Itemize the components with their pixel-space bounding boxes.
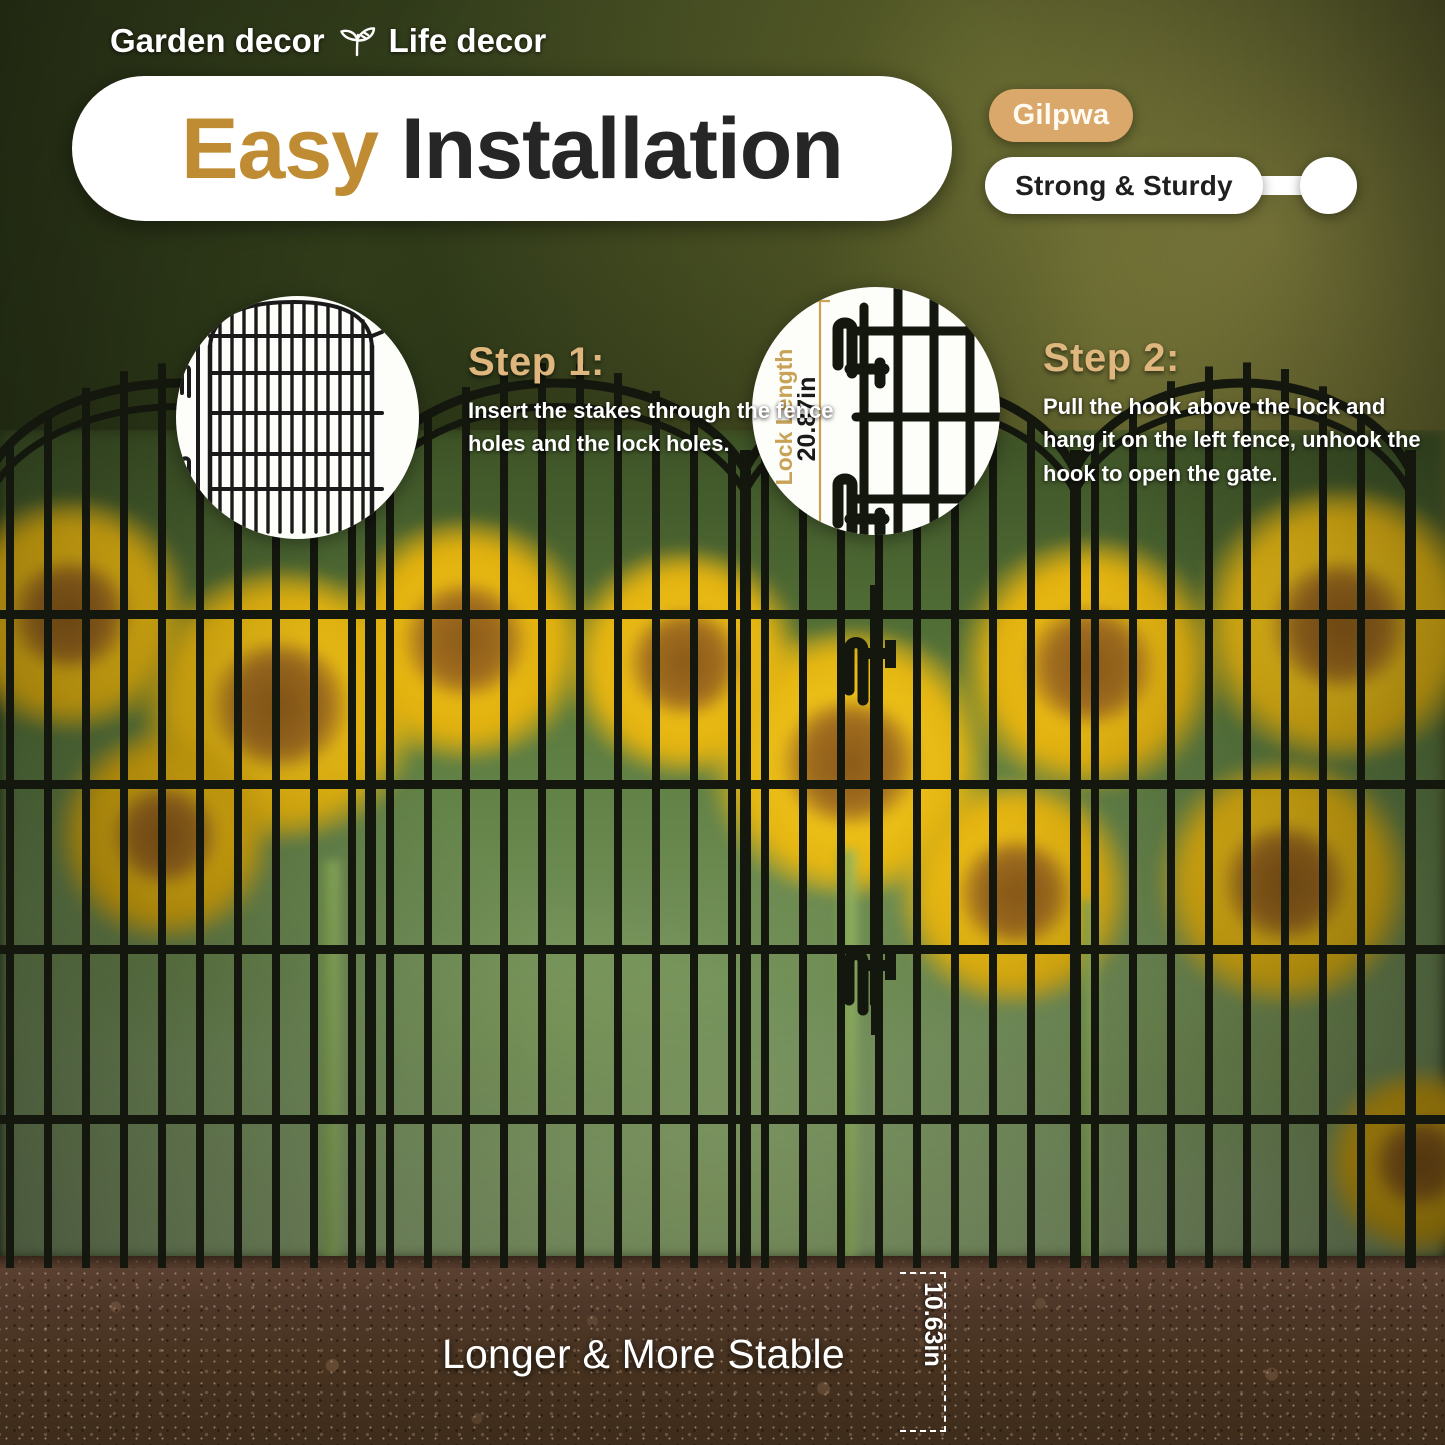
product-infographic: Garden decor Life decor Easy Installatio… — [0, 0, 1445, 1445]
title-word-easy: Easy — [181, 101, 378, 197]
feature-badge: Strong & Sturdy — [985, 157, 1360, 214]
feature-badge-pill: Strong & Sturdy — [985, 157, 1263, 214]
step-1-heading: Step 1: — [468, 340, 860, 385]
step-2-text: Step 2: Pull the hook above the lock and… — [1043, 336, 1435, 490]
bottom-caption: Longer & More Stable — [442, 1331, 845, 1378]
depth-value: 10.63in — [918, 1282, 947, 1367]
step-2-body: Pull the hook above the lock and hang it… — [1043, 390, 1435, 490]
step-2-heading: Step 2: — [1043, 336, 1435, 381]
title-banner: Easy Installation — [72, 76, 952, 221]
burial-depth-dimension: 10.63in — [900, 1272, 946, 1432]
brand-tagline: Garden decor Life decor — [110, 22, 546, 60]
brand-badge: Gilpwa — [989, 89, 1133, 142]
step-1-illustration — [176, 296, 419, 539]
tagline-right-text: Life decor — [389, 22, 547, 60]
gate-panel-diagram — [176, 296, 419, 539]
page-title: Easy Installation — [181, 106, 843, 192]
tagline-left-text: Garden decor — [110, 22, 325, 60]
brand-name: Gilpwa — [1013, 99, 1110, 132]
leaf-sprout-icon — [337, 24, 377, 58]
feature-badge-label: Strong & Sturdy — [1015, 170, 1233, 202]
step-1-text: Step 1: Insert the stakes through the fe… — [468, 340, 860, 461]
step-1-body: Insert the stakes through the fence hole… — [468, 394, 860, 461]
feature-badge-dot — [1300, 157, 1357, 214]
title-word-installation: Installation — [401, 101, 843, 197]
